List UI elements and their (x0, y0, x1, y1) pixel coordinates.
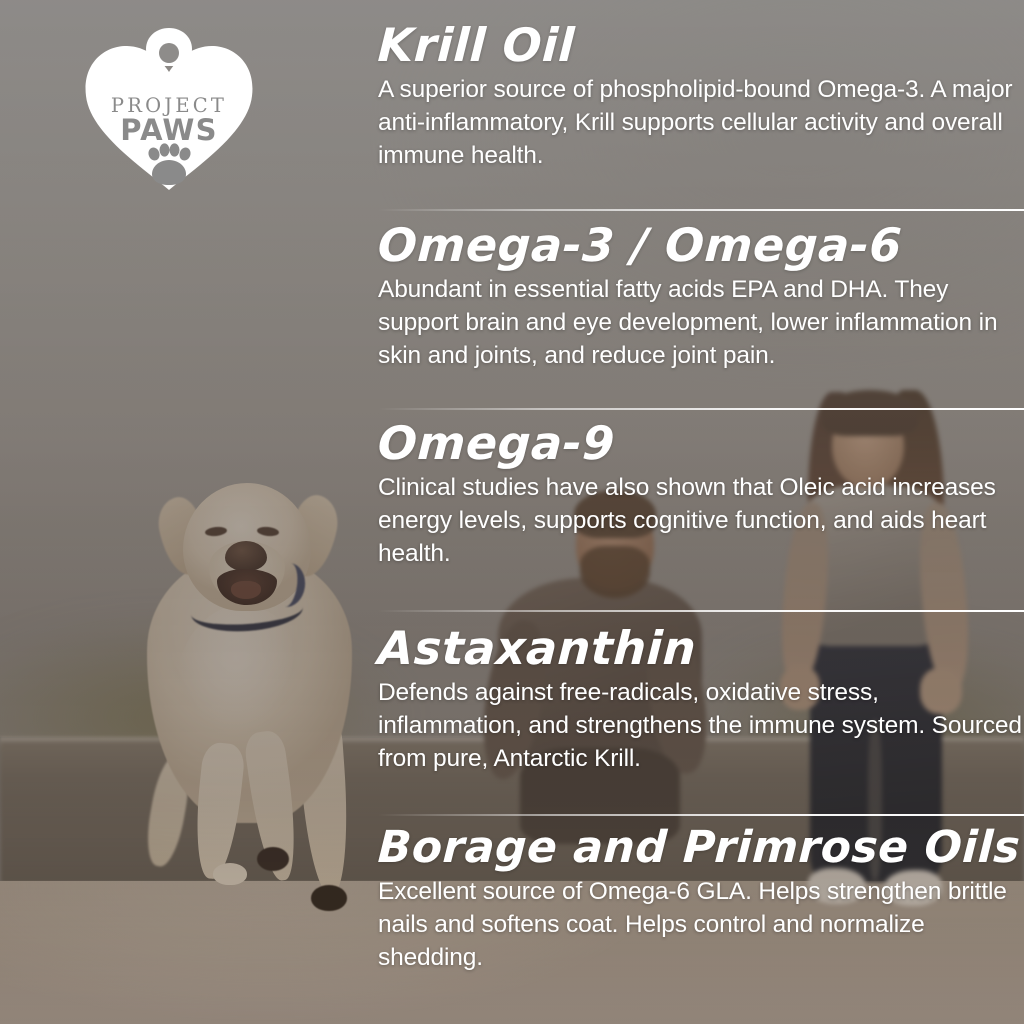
ingredient-benefits-poster: PROJECT PAWS Krill Oil A superior source… (0, 0, 1024, 1024)
ingredient-section-omega-9: Omega-9 Clinical studies have also shown… (378, 420, 1024, 570)
section-divider (378, 814, 1024, 816)
section-body: A superior source of phospholipid-bound … (378, 74, 1024, 172)
ingredient-section-astaxanthin: Astaxanthin Defends against free-radical… (378, 625, 1024, 775)
section-body: Clinical studies have also shown that Ol… (378, 472, 1024, 570)
project-paws-logo: PROJECT PAWS (80, 26, 258, 196)
logo-word-paws: PAWS (120, 113, 217, 147)
section-heading: Krill Oil (377, 22, 1024, 68)
ingredient-section-borage-and-primrose-oils: Borage and Primrose Oils Excellent sourc… (378, 826, 1024, 974)
ingredient-section-omega-3-omega-6: Omega-3 / Omega-6 Abundant in essential … (378, 222, 1024, 372)
section-heading: Omega-9 (377, 420, 1024, 466)
section-body: Excellent source of Omega-6 GLA. Helps s… (378, 876, 1024, 974)
ingredient-section-krill-oil: Krill Oil A superior source of phospholi… (378, 22, 1024, 172)
section-heading: Astaxanthin (377, 625, 1024, 671)
section-body: Abundant in essential fatty acids EPA an… (378, 274, 1024, 372)
section-divider (378, 610, 1024, 612)
section-body: Defends against free-radicals, oxidative… (378, 677, 1024, 775)
section-heading: Borage and Primrose Oils (377, 826, 1024, 870)
section-heading: Omega-3 / Omega-6 (377, 222, 1024, 268)
ingredients-list: Krill Oil A superior source of phospholi… (378, 0, 1024, 1024)
section-divider (378, 209, 1024, 211)
tag-hole (159, 43, 179, 63)
section-divider (378, 408, 1024, 410)
